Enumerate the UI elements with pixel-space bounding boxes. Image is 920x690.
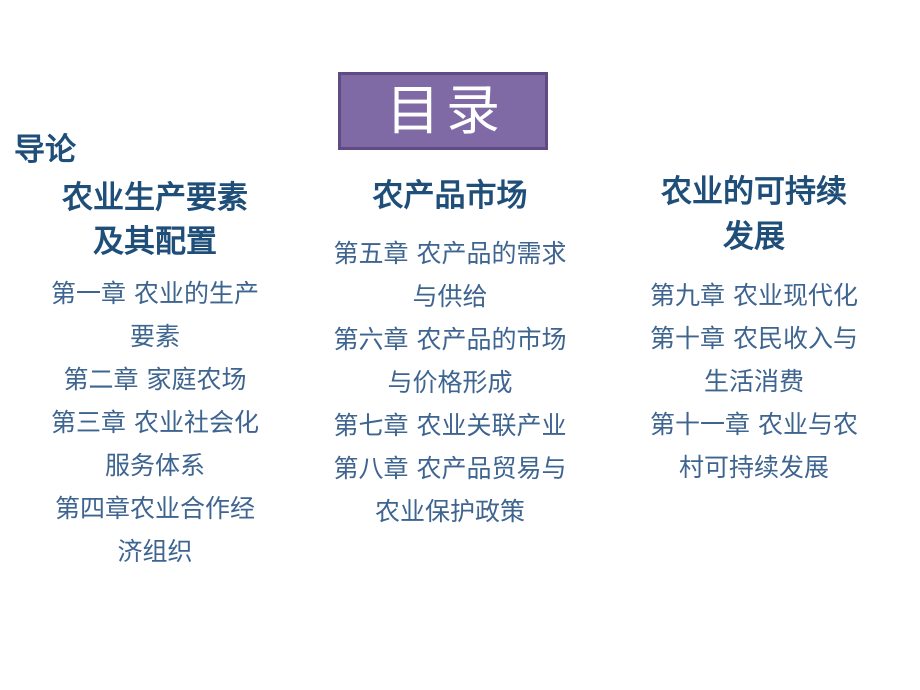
list-item[interactable]: 第二章 家庭农场 — [14, 358, 296, 401]
slide-title-box: 目录 — [338, 72, 548, 150]
section-heading-introduction: 导论 — [14, 130, 296, 172]
list-item[interactable]: 第三章 农业社会化 服务体系 — [14, 401, 296, 487]
toc-column-left: 导论 农业生产要素 及其配置 第一章 农业的生产 要素 第二章 家庭农场 第三章… — [14, 130, 296, 573]
list-item[interactable]: 第五章 农产品的需求 与供给 — [300, 232, 600, 318]
section-heading-agricultural-product-market: 农产品市场 — [300, 175, 600, 218]
list-item[interactable]: 第四章农业合作经 济组织 — [14, 487, 296, 573]
slide-title-text: 目录 — [380, 84, 506, 138]
section-heading-production-factors: 农业生产要素 及其配置 — [14, 176, 296, 264]
list-item[interactable]: 第七章 农业关联产业 — [300, 404, 600, 447]
list-item[interactable]: 第八章 农产品贸易与 农业保护政策 — [300, 447, 600, 533]
chapter-list-middle: 第五章 农产品的需求 与供给 第六章 农产品的市场 与价格形成 第七章 农业关联… — [300, 232, 600, 533]
section-heading-sustainable-development: 农业的可持续 发展 — [604, 170, 904, 260]
list-item[interactable]: 第六章 农产品的市场 与价格形成 — [300, 318, 600, 404]
list-item[interactable]: 第十一章 农业与农 村可持续发展 — [604, 403, 904, 489]
chapter-list-right: 第九章 农业现代化 第十章 农民收入与 生活消费 第十一章 农业与农 村可持续发… — [604, 274, 904, 489]
toc-column-right: 农业的可持续 发展 第九章 农业现代化 第十章 农民收入与 生活消费 第十一章 … — [604, 170, 904, 489]
list-item[interactable]: 第一章 农业的生产 要素 — [14, 272, 296, 358]
toc-column-middle: 农产品市场 第五章 农产品的需求 与供给 第六章 农产品的市场 与价格形成 第七… — [300, 175, 600, 533]
list-item[interactable]: 第十章 农民收入与 生活消费 — [604, 317, 904, 403]
list-item[interactable]: 第九章 农业现代化 — [604, 274, 904, 317]
chapter-list-left: 第一章 农业的生产 要素 第二章 家庭农场 第三章 农业社会化 服务体系 第四章… — [14, 272, 296, 573]
